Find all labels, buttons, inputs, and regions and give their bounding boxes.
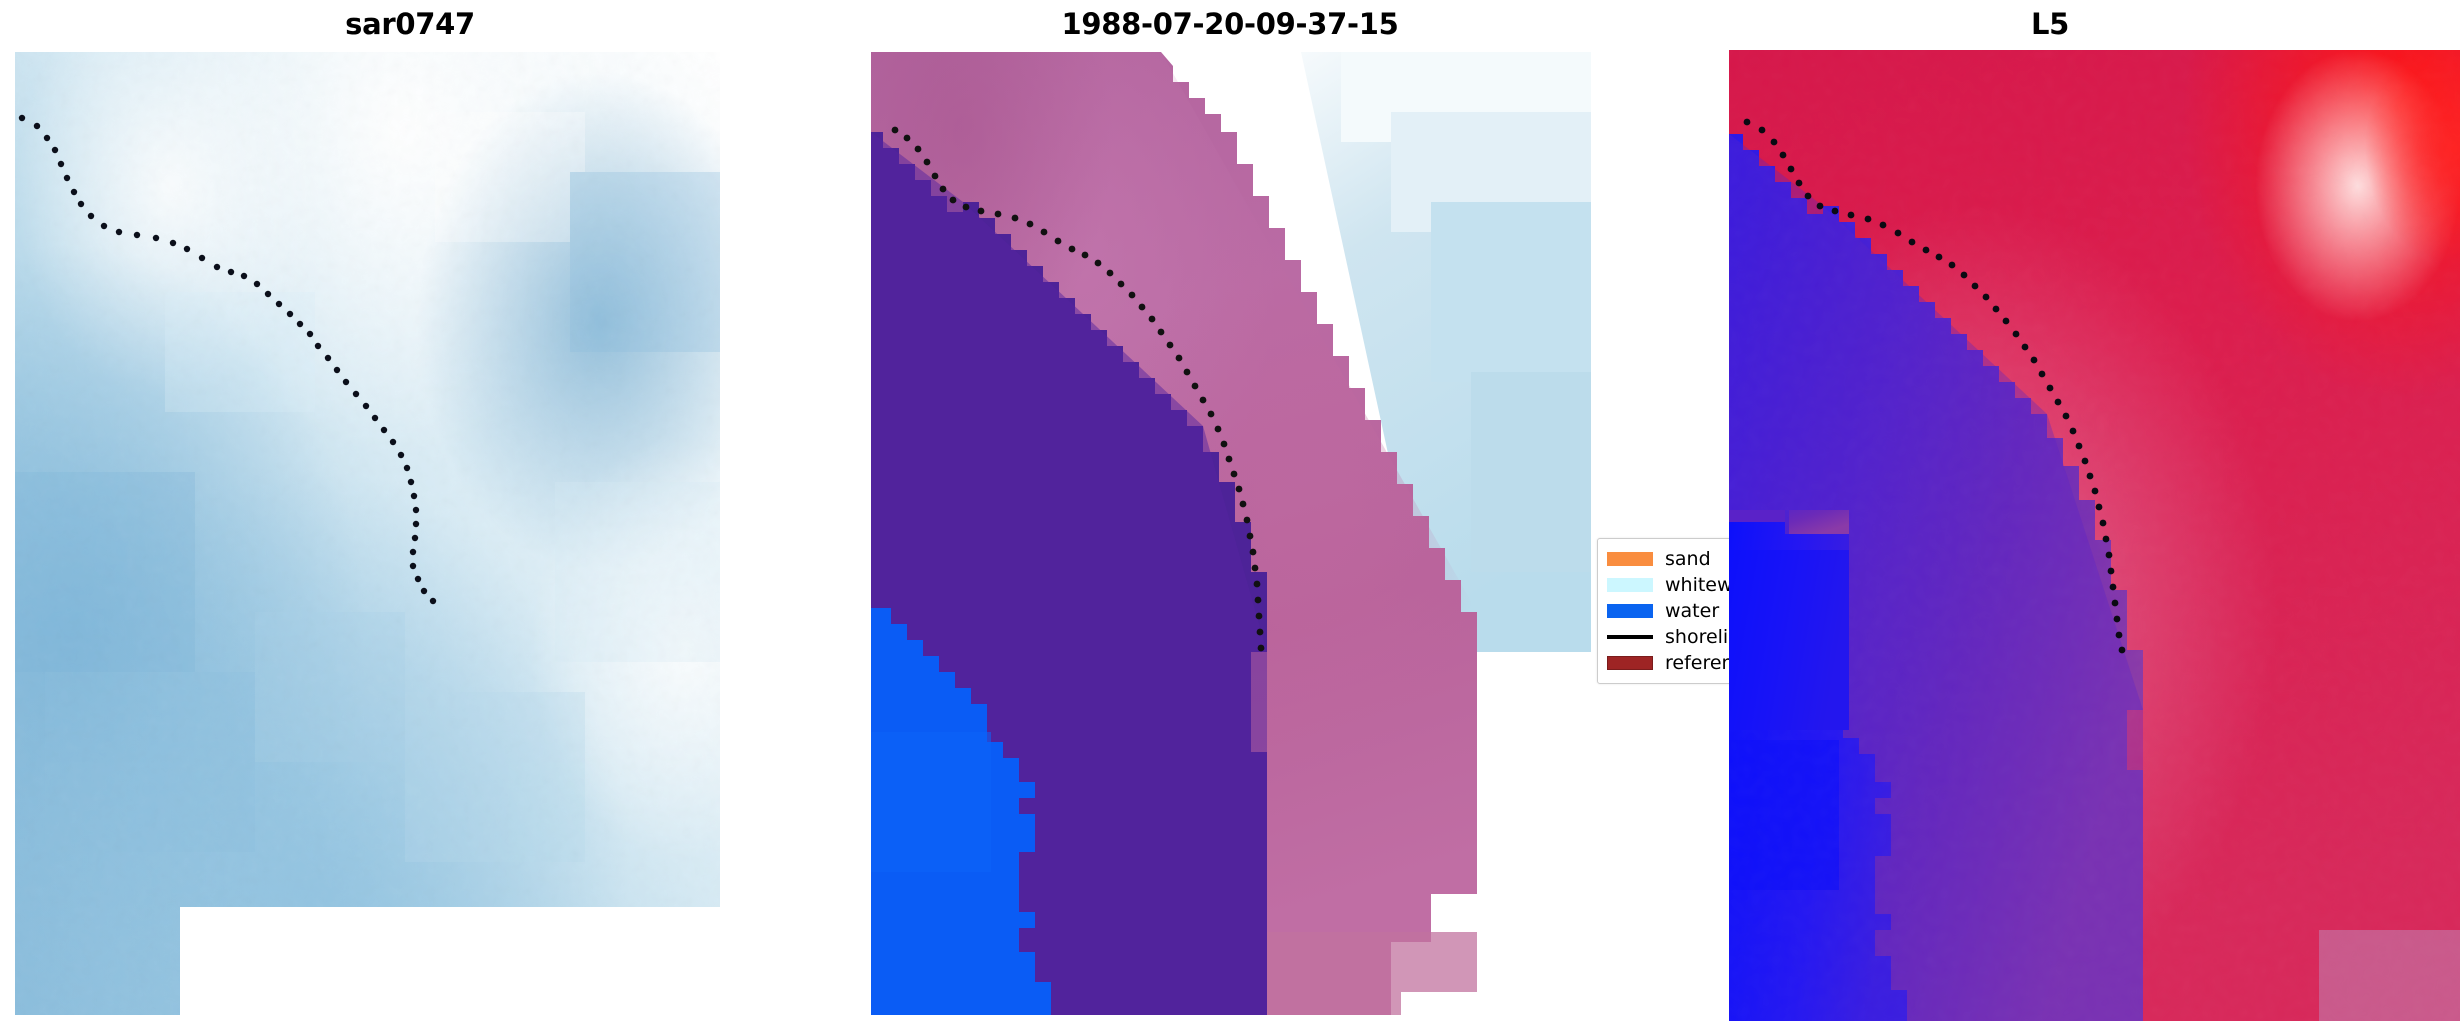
water-swatch: [1607, 604, 1653, 618]
panel-sar: sar0747: [0, 0, 820, 1021]
legend-label-shoreline: shoreline: [1665, 626, 1749, 648]
legend-item-whitewater: whitewater: [1607, 572, 1739, 598]
sar-image: [15, 52, 720, 1015]
legend-item-shoreline: shoreline: [1607, 624, 1739, 650]
panel-date: 1988-07-20-09-37-15: [820, 0, 1640, 1021]
shoreline-line-swatch: [1607, 635, 1653, 639]
legend-label-whitewater: whitewater: [1665, 574, 1749, 596]
legend-item-water: water: [1607, 598, 1739, 624]
legend-item-reference: reference: [1607, 650, 1739, 676]
legend-item-sand: sand: [1607, 546, 1739, 572]
axes-l5: [1729, 50, 2460, 1021]
whitewater-swatch: [1607, 578, 1653, 592]
legend-label-water: water: [1665, 600, 1719, 622]
figure-canvas: sar0747: [0, 0, 2460, 1021]
axes-sar: [15, 52, 720, 1015]
legend-label-reference: reference: [1665, 652, 1749, 674]
sand-swatch: [1607, 552, 1653, 566]
axes-date: [871, 52, 1591, 1015]
l5-image: [1729, 50, 2460, 1021]
panel-l5: L5: [1640, 0, 2460, 1021]
panel-title-sar: sar0747: [0, 7, 820, 41]
legend-label-sand: sand: [1665, 548, 1711, 570]
legend: sand whitewater water shoreline referenc…: [1597, 538, 1749, 684]
panel-title-l5: L5: [1640, 7, 2460, 41]
reference-swatch: [1607, 656, 1653, 670]
classified-image: [871, 52, 1591, 1015]
panel-title-date: 1988-07-20-09-37-15: [820, 7, 1640, 41]
